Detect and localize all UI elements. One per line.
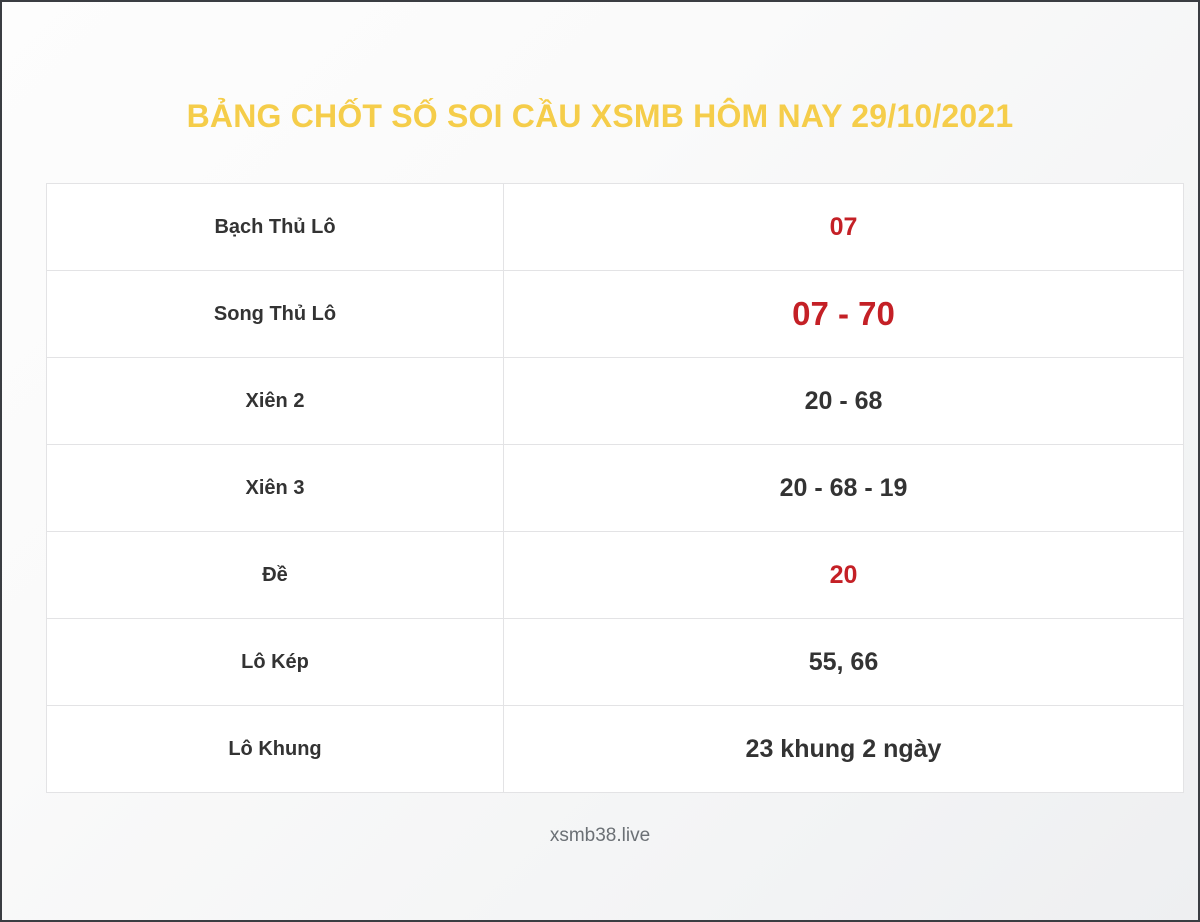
row-label-lo-khung: Lô Khung bbox=[47, 706, 504, 793]
table-row: Lô Khung 23 khung 2 ngày bbox=[47, 706, 1184, 793]
row-label-lo-kep: Lô Kép bbox=[47, 619, 504, 706]
row-label-bach-thu-lo: Bạch Thủ Lô bbox=[47, 184, 504, 271]
table-row: Bạch Thủ Lô 07 bbox=[47, 184, 1184, 271]
prediction-table: Bạch Thủ Lô 07 Song Thủ Lô 07 - 70 Xiên … bbox=[46, 183, 1184, 793]
row-value-bach-thu-lo: 07 bbox=[504, 184, 1184, 271]
row-label-xien-3: Xiên 3 bbox=[47, 445, 504, 532]
row-label-song-thu-lo: Song Thủ Lô bbox=[47, 271, 504, 358]
table-row: Lô Kép 55, 66 bbox=[47, 619, 1184, 706]
row-value-xien-3: 20 - 68 - 19 bbox=[504, 445, 1184, 532]
row-value-lo-khung: 23 khung 2 ngày bbox=[504, 706, 1184, 793]
site-credit: xsmb38.live bbox=[550, 825, 650, 846]
table-row: Xiên 2 20 - 68 bbox=[47, 358, 1184, 445]
row-label-xien-2: Xiên 2 bbox=[47, 358, 504, 445]
footer: xsmb38.live bbox=[2, 825, 1198, 847]
title-bar: BẢNG CHỐT SỐ SOI CẦU XSMB HÔM NAY 29/10/… bbox=[2, 98, 1198, 135]
page-title: BẢNG CHỐT SỐ SOI CẦU XSMB HÔM NAY 29/10/… bbox=[187, 98, 1014, 135]
table-row: Xiên 3 20 - 68 - 19 bbox=[47, 445, 1184, 532]
lottery-prediction-board: BẢNG CHỐT SỐ SOI CẦU XSMB HÔM NAY 29/10/… bbox=[0, 0, 1200, 922]
row-value-lo-kep: 55, 66 bbox=[504, 619, 1184, 706]
row-value-xien-2: 20 - 68 bbox=[504, 358, 1184, 445]
table-row: Song Thủ Lô 07 - 70 bbox=[47, 271, 1184, 358]
row-value-song-thu-lo: 07 - 70 bbox=[504, 271, 1184, 358]
prediction-table-body: Bạch Thủ Lô 07 Song Thủ Lô 07 - 70 Xiên … bbox=[47, 184, 1184, 793]
row-value-de: 20 bbox=[504, 532, 1184, 619]
table-row: Đề 20 bbox=[47, 532, 1184, 619]
row-label-de: Đề bbox=[47, 532, 504, 619]
